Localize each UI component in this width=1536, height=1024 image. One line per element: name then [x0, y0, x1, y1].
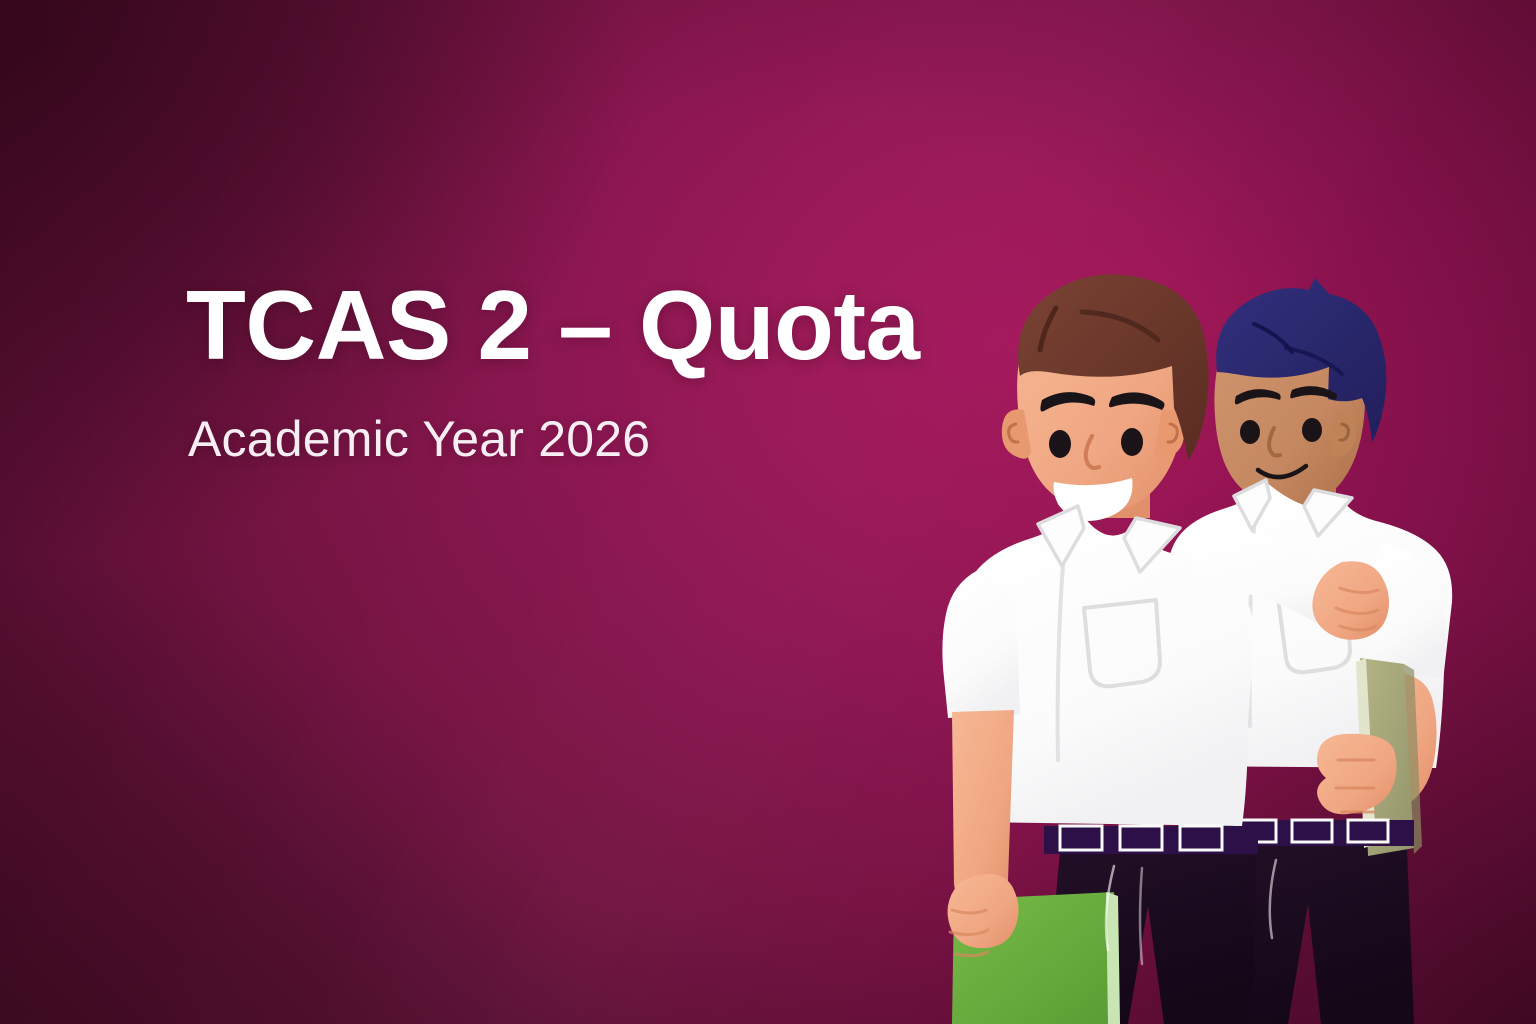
title-slide: TCAS 2 – Quota Academic Year 2026: [0, 0, 1536, 1024]
left-eye-right: [1121, 428, 1143, 456]
left-eye-left: [1049, 430, 1071, 458]
right-eye-left: [1240, 420, 1260, 444]
heading-block: TCAS 2 – Quota Academic Year 2026: [186, 276, 946, 467]
students-illustration: [936, 264, 1536, 1024]
right-eye-right: [1302, 418, 1322, 442]
page-title: TCAS 2 – Quota: [186, 276, 946, 376]
page-subtitle: Academic Year 2026: [188, 412, 946, 467]
